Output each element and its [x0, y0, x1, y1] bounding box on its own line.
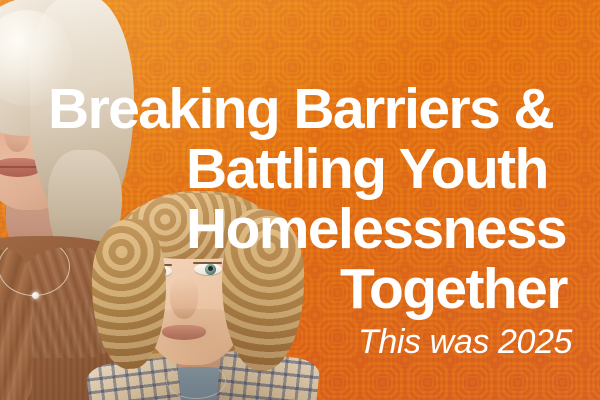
man-lash-right [193, 262, 222, 264]
man-nose [170, 277, 198, 319]
man-hair-curls-right [222, 209, 304, 371]
man-lips [162, 325, 206, 340]
banner-graphic: Breaking Barriers & Battling Youth Homel… [0, 0, 600, 400]
man-eye-right [194, 263, 222, 276]
woman-necklace-pendant [32, 292, 39, 299]
young-man-portrait [96, 185, 326, 400]
man-iris-right [205, 264, 216, 275]
woman-necklace [0, 238, 70, 296]
man-hair-curls-left [92, 219, 166, 369]
